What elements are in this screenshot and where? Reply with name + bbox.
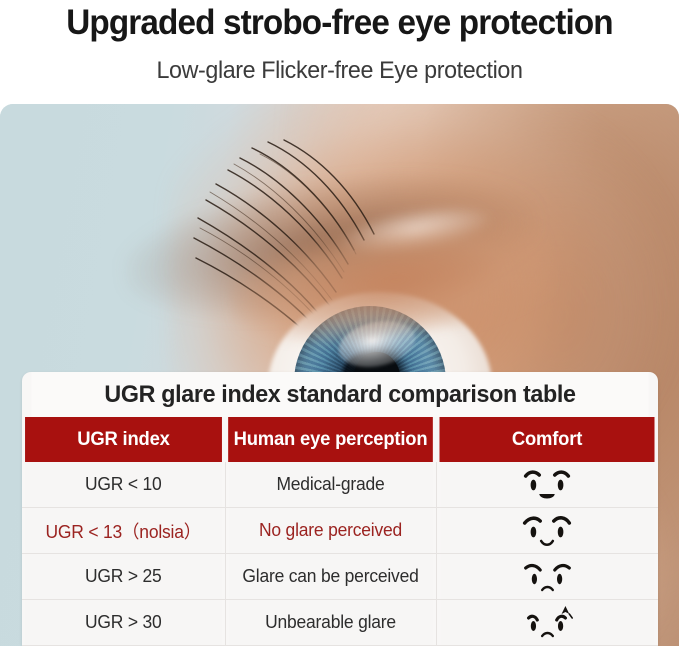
cell-comfort [439, 462, 654, 508]
cell-perception: Glare can be perceived [228, 554, 433, 600]
table-row: UGR < 13（nolsia） No glare perceived [22, 508, 658, 554]
table-header-row: UGR index Human eye perception Comfort [22, 417, 658, 462]
page-subtitle: Low-glare Flicker-free Eye protection [10, 56, 669, 86]
cell-comfort [439, 600, 654, 646]
ugr-comparison-table: UGR index Human eye perception Comfort U… [22, 417, 658, 646]
ugr-comparison-card: UGR glare index standard comparison tabl… [22, 372, 658, 646]
column-header-ugr-index: UGR index [25, 417, 222, 462]
product-infographic-page: Upgraded strobo-free eye protection Low-… [0, 0, 679, 646]
face-very-happy-icon [519, 467, 575, 503]
table-row: UGR > 25 Glare can be perceived [22, 554, 658, 600]
cell-ugr-index: UGR > 30 [25, 600, 222, 646]
cell-perception: No glare perceived [228, 508, 433, 554]
table-row: UGR > 30 Unbearable glare [22, 600, 658, 646]
cell-perception: Medical-grade [228, 462, 433, 508]
page-title: Upgraded strobo-free eye protection [17, 2, 662, 44]
table-row: UGR < 10 Medical-grade [22, 462, 658, 508]
cell-ugr-index: UGR > 25 [25, 554, 222, 600]
face-distressed-sweat-icon [519, 605, 575, 641]
table-title: UGR glare index standard comparison tabl… [32, 372, 649, 417]
face-slight-smile-icon [519, 513, 575, 549]
cell-comfort [439, 508, 654, 554]
cell-ugr-index: UGR < 10 [25, 462, 222, 508]
column-header-comfort: Comfort [439, 417, 654, 462]
cell-perception: Unbearable glare [228, 600, 433, 646]
cell-comfort [439, 554, 654, 600]
face-frown-icon [519, 559, 575, 595]
column-header-perception: Human eye perception [228, 417, 433, 462]
cell-ugr-index: UGR < 13（nolsia） [25, 508, 222, 554]
